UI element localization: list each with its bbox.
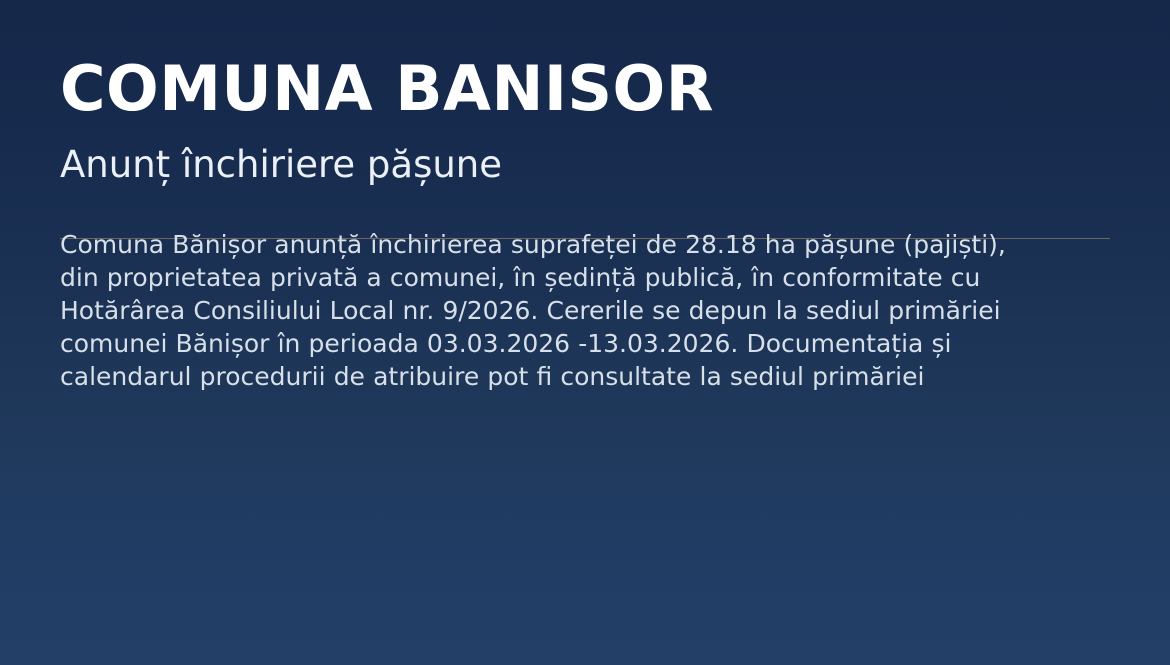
page-title: COMUNA BANISOR [60, 58, 714, 120]
announcement-slide: COMUNA BANISOR Anunț închiriere pășune C… [0, 0, 1170, 665]
page-subtitle: Anunț închiriere pășune [60, 143, 502, 187]
announcement-body-text: Comuna Bănișor anunță închirierea supraf… [60, 228, 1020, 393]
